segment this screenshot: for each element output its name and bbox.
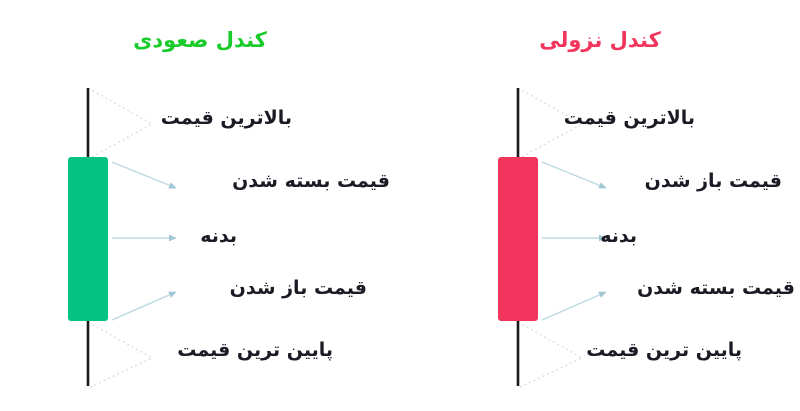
bullish-candle-panel: کندل صعودی بالاترین قیمت [0, 0, 400, 411]
bearish-candle-panel: کندل نزولی بالاترین قیمت قیمت باز شدن بد… [400, 0, 800, 411]
bearish-label-body: بدنه [600, 225, 637, 247]
high-dotted-guide-icon [88, 88, 152, 159]
bullish-label-high: بالاترین قیمت [161, 107, 292, 129]
bearish-label-open: قیمت باز شدن [645, 170, 782, 192]
bearish-label-low: پایین ترین قیمت [586, 339, 742, 361]
open-price-arrow-icon [112, 292, 176, 320]
low-dotted-guide-icon [88, 322, 152, 388]
bullish-label-open: قیمت باز شدن [230, 277, 367, 299]
open-price-arrow-icon [542, 162, 606, 188]
candlestick-infographic: کندل صعودی بالاترین قیمت [0, 0, 800, 411]
candle-body [68, 157, 108, 321]
bearish-label-high: بالاترین قیمت [564, 107, 695, 129]
close-price-arrow-icon [542, 292, 606, 320]
close-price-arrow-icon [112, 162, 176, 188]
bullish-label-body: بدنه [200, 225, 237, 247]
bearish-label-close: قیمت بسته شدن [637, 277, 795, 299]
bullish-label-low: پایین ترین قیمت [177, 339, 333, 361]
low-dotted-guide-icon [518, 322, 582, 388]
bullish-label-close: قیمت بسته شدن [232, 170, 390, 192]
candle-body [498, 157, 538, 321]
